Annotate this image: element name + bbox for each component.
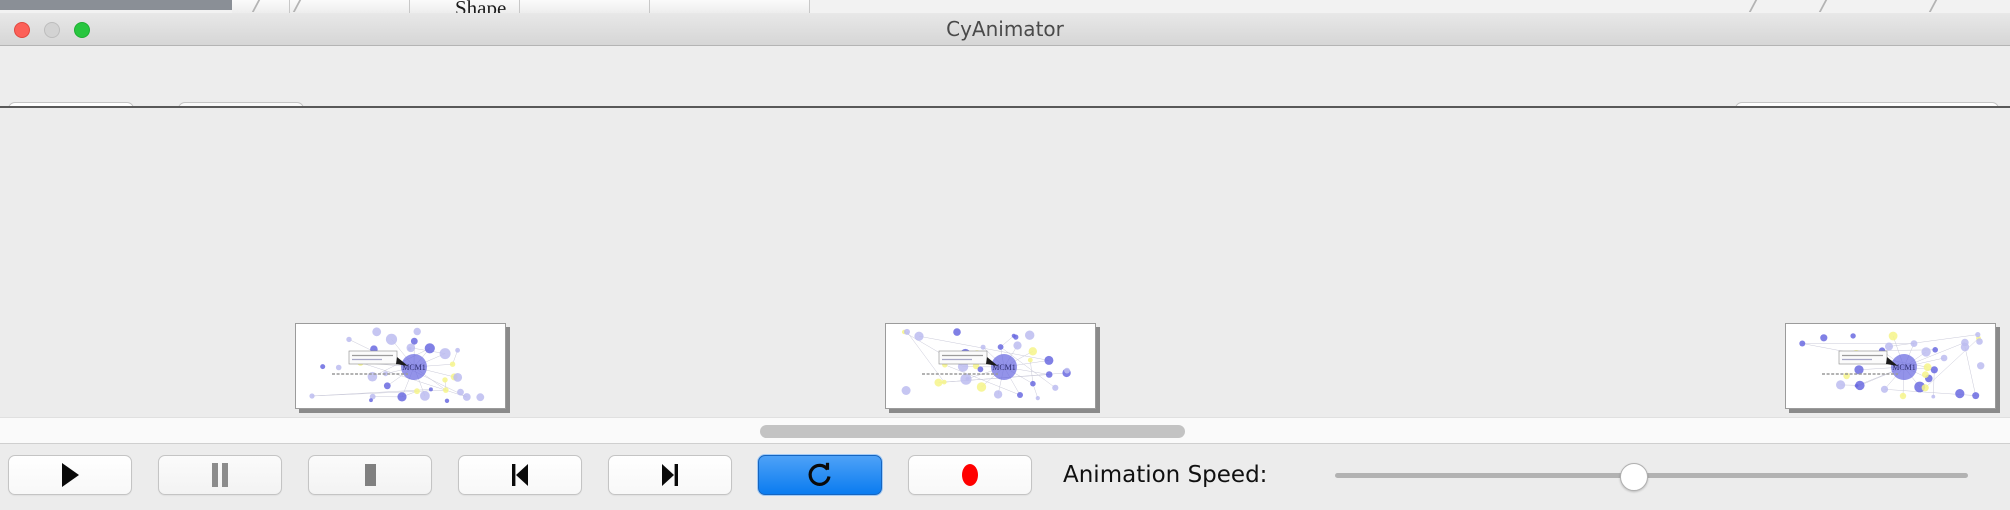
background-window-strip: Shape: [0, 0, 2010, 13]
title-bar: CyAnimator: [0, 13, 2010, 46]
frames-toolbar: Clear All Frames: [0, 46, 2010, 107]
background-tick-icon: [1929, 0, 1949, 12]
cyanimator-window: Shape CyAnimator Clear All Frames MCM1MC…: [0, 0, 2010, 510]
skip-to-start-button[interactable]: [458, 455, 582, 495]
timeline-frame-thumbnail[interactable]: MCM1: [885, 323, 1096, 409]
animation-speed-label: Animation Speed:: [1063, 455, 1267, 495]
record-button[interactable]: [908, 455, 1032, 495]
loop-icon: [807, 461, 833, 489]
background-tick-icon: [1749, 0, 1769, 12]
background-cell: [520, 0, 650, 13]
pause-icon: [209, 462, 231, 488]
background-window-label: Shape: [455, 0, 506, 13]
background-window-header: [0, 0, 232, 10]
skip-back-icon: [507, 462, 533, 488]
play-icon: [59, 462, 81, 488]
animation-speed-slider-thumb[interactable]: [1620, 463, 1648, 491]
record-icon: [958, 461, 982, 489]
timeline-frame-thumbnail[interactable]: MCM1: [295, 323, 506, 409]
background-cell: [650, 0, 810, 13]
playback-controls: Animation Speed:: [0, 445, 2010, 510]
timeline-panel[interactable]: MCM1MCM1MCM1 12131415161718 Seconds: [0, 108, 2010, 414]
animation-speed-slider[interactable]: [1335, 473, 1968, 478]
loop-button[interactable]: [758, 455, 882, 495]
window-title: CyAnimator: [0, 13, 2010, 46]
skip-forward-icon: [657, 462, 683, 488]
background-tick-icon: [1819, 0, 1839, 12]
timeline-scrollbar[interactable]: [0, 417, 2010, 444]
play-button[interactable]: [8, 455, 132, 495]
timeline-scrollbar-thumb[interactable]: [760, 425, 1185, 438]
timeline-frame-thumbnail[interactable]: MCM1: [1785, 323, 1996, 409]
pause-button[interactable]: [158, 455, 282, 495]
skip-to-end-button[interactable]: [608, 455, 732, 495]
stop-button[interactable]: [308, 455, 432, 495]
stop-icon: [359, 462, 381, 488]
